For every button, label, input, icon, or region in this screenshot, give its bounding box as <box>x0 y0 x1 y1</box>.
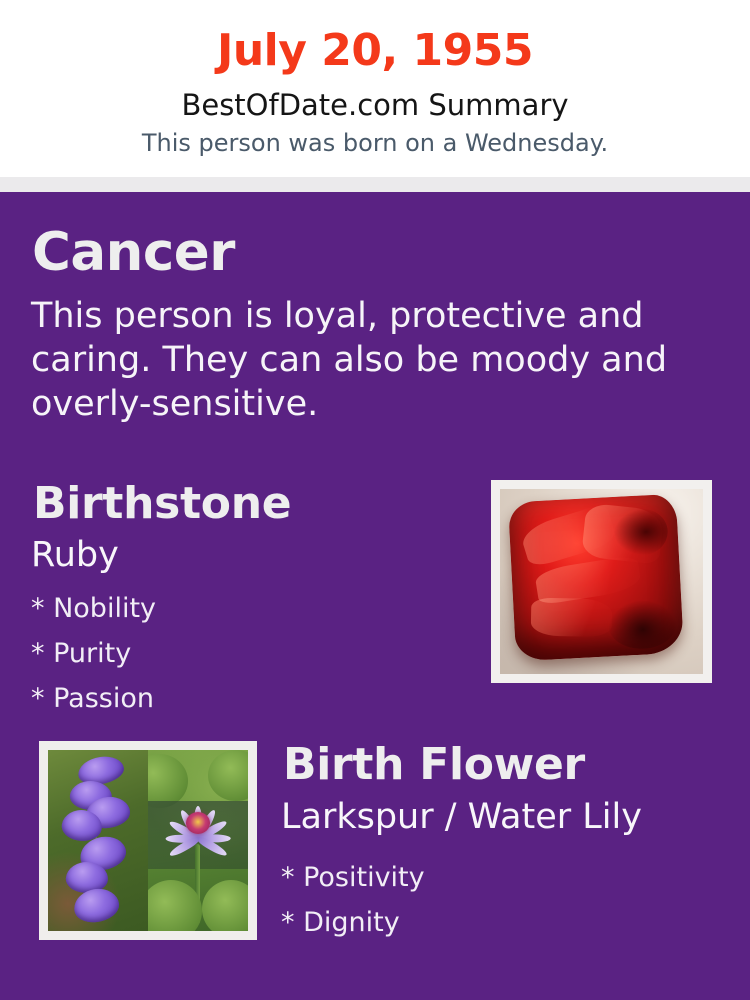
ruby-shadow <box>608 599 678 650</box>
birth-flower-heading: Birth Flower <box>283 738 585 792</box>
list-item: * Nobility <box>31 586 451 631</box>
birth-flower-name: Larkspur / Water Lily <box>281 795 642 839</box>
birthstone-image-frame <box>491 480 712 683</box>
list-item: * Passion <box>31 676 451 721</box>
ruby-crystal-shape <box>508 494 685 662</box>
header-divider <box>0 177 750 192</box>
zodiac-sign-description: This person is loyal, protective and car… <box>31 294 671 426</box>
larkspur-blossom <box>72 887 120 924</box>
list-item: * Purity <box>31 631 451 676</box>
page-header: July 20, 1955 BestOfDate.com Summary Thi… <box>0 0 750 177</box>
lily-pad <box>148 880 202 931</box>
zodiac-sign-name: Cancer <box>32 222 235 284</box>
list-item: * Dignity <box>281 900 701 945</box>
birth-flower-image-frame <box>39 741 257 940</box>
site-summary-label: BestOfDate.com Summary <box>0 88 750 122</box>
birth-flower-trait-list: * Positivity * Dignity <box>281 855 701 945</box>
birthstone-name: Ruby <box>31 533 119 577</box>
list-item: * Positivity <box>281 855 701 900</box>
larkspur-photo <box>48 750 148 931</box>
page-title-date: July 20, 1955 <box>0 24 750 78</box>
day-of-week-statement: This person was born on a Wednesday. <box>0 128 750 158</box>
lily-pad <box>202 880 248 931</box>
lily-stamen-center <box>186 812 210 834</box>
birthstone-heading: Birthstone <box>33 477 291 531</box>
birth-flower-image <box>48 750 248 931</box>
water-lily-photo <box>148 750 248 931</box>
water-lily-bloom <box>166 790 230 855</box>
ruby-facet <box>531 598 613 638</box>
birthstone-image <box>500 489 703 674</box>
birthstone-trait-list: * Nobility * Purity * Passion <box>31 586 451 721</box>
